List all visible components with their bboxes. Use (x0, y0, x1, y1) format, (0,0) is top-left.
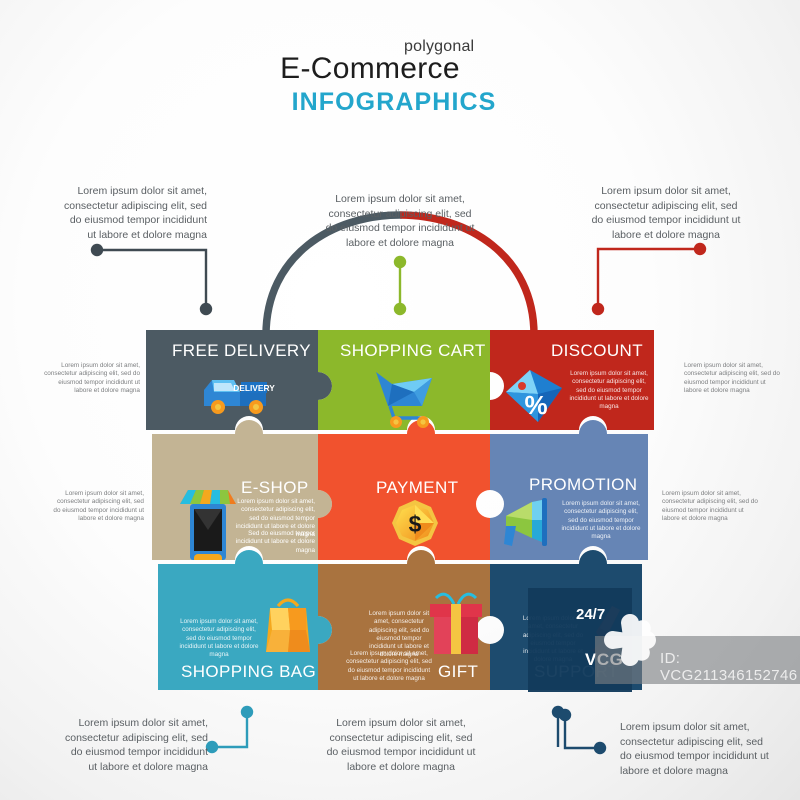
connector-top-left (91, 244, 212, 315)
side-caption-right-middle: Lorem ipsum dolor sit amet, consectetur … (662, 490, 758, 524)
tile-title-e-shop: E-SHOP (241, 478, 309, 498)
tile-body-gift-secondary: Lorem ipsum dolor sit amet, consectetur … (345, 650, 433, 683)
connector-bottom-left (206, 706, 253, 753)
connector-top-center (394, 256, 406, 315)
svg-text:$: $ (409, 511, 422, 537)
tile-body-e-shop-secondary: Sed do eiusmod tempor incididunt ut labo… (235, 530, 315, 555)
tile-title-gift: GIFT (438, 662, 478, 682)
svg-text:%: % (524, 390, 547, 420)
callout-bottom-right: Lorem ipsum dolor sit amet, consectetur … (620, 720, 770, 778)
watermark-badge-247: 24/7 (576, 606, 605, 623)
tile-body-shopping-bag: Lorem ipsum dolor sit amet, consectetur … (178, 618, 260, 659)
watermark-id: ID: VCG211346152746 (660, 650, 800, 684)
callout-bottom-center: Lorem ipsum dolor sit amet, consectetur … (325, 716, 477, 774)
callout-top-left: Lorem ipsum dolor sit amet, consectetur … (62, 184, 207, 242)
tile-body-discount: Lorem ipsum dolor sit amet, consectetur … (569, 370, 649, 411)
tile-title-free-delivery: FREE DELIVERY (172, 341, 311, 361)
side-caption-left-middle: Lorem ipsum dolor sit amet, consectetur … (50, 490, 144, 524)
connector-bottom-right (559, 709, 606, 754)
side-caption-left-upper: Lorem ipsum dolor sit amet, consectetur … (44, 362, 140, 396)
side-caption-right-upper: Lorem ipsum dolor sit amet, consectetur … (684, 362, 780, 396)
tile-body-promotion: Lorem ipsum dolor sit amet, consectetur … (560, 500, 642, 541)
svg-text:DELIVERY: DELIVERY (233, 383, 275, 393)
connector-top-right (592, 243, 706, 315)
callout-top-right: Lorem ipsum dolor sit amet, consectetur … (591, 184, 741, 242)
tile-title-shopping-cart: SHOPPING CART (340, 341, 486, 361)
tile-title-discount: DISCOUNT (551, 341, 643, 361)
callout-bottom-left: Lorem ipsum dolor sit amet, consectetur … (60, 716, 208, 774)
tile-title-payment: PAYMENT (376, 478, 458, 498)
callout-top-center: Lorem ipsum dolor sit amet, consectetur … (325, 192, 475, 250)
infographic-canvas: polygonal E-Commerce INFOGRAPHICS (0, 0, 800, 800)
tile-title-promotion: PROMOTION (529, 475, 637, 495)
tile-title-shopping-bag: SHOPPING BAG (181, 662, 316, 682)
